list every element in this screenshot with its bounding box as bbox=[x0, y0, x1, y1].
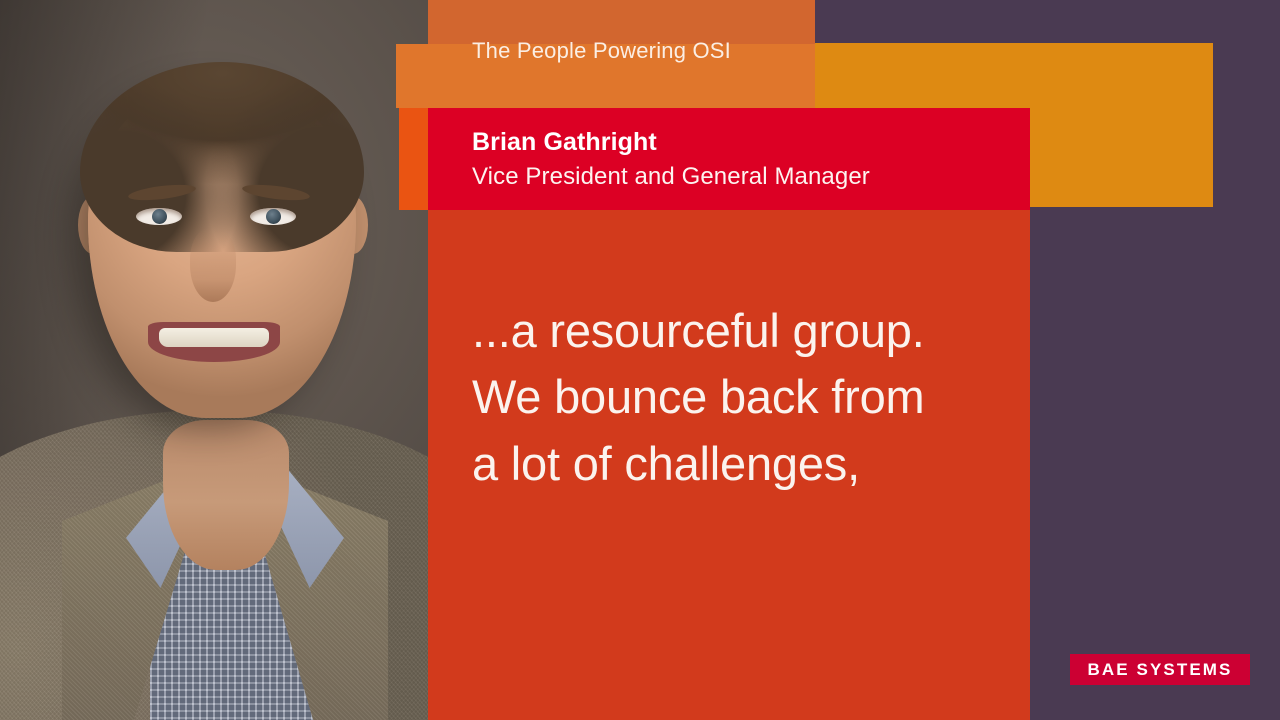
orange-accent-strip bbox=[399, 108, 428, 210]
quote-panel: ...a resourceful group. We bounce back f… bbox=[428, 210, 1030, 720]
series-title: The People Powering OSI bbox=[472, 38, 731, 64]
speaker-name: Brian Gathright bbox=[472, 128, 657, 157]
bae-systems-logo: BAE SYSTEMS bbox=[1070, 654, 1250, 685]
portrait-mouth bbox=[148, 322, 280, 362]
speaker-role: Vice President and General Manager bbox=[472, 163, 870, 191]
portrait-eye-right bbox=[250, 208, 296, 225]
quote-line: a lot of challenges, bbox=[472, 431, 1012, 497]
portrait-nose bbox=[190, 228, 236, 302]
speaker-name-band: Brian Gathright Vice President and Gener… bbox=[428, 108, 1030, 210]
portrait-eye-left bbox=[136, 208, 182, 225]
portrait-neck bbox=[163, 420, 289, 570]
quote-line: ...a resourceful group. bbox=[472, 298, 1012, 364]
quote-line: We bounce back from bbox=[472, 364, 1012, 430]
quote-text: ...a resourceful group. We bounce back f… bbox=[472, 298, 1012, 497]
bae-systems-logo-text: BAE SYSTEMS bbox=[1088, 660, 1233, 680]
slide-canvas: The People Powering OSI Brian Gathright … bbox=[0, 0, 1280, 720]
portrait-photo bbox=[0, 0, 428, 720]
portrait-teeth bbox=[159, 328, 270, 347]
